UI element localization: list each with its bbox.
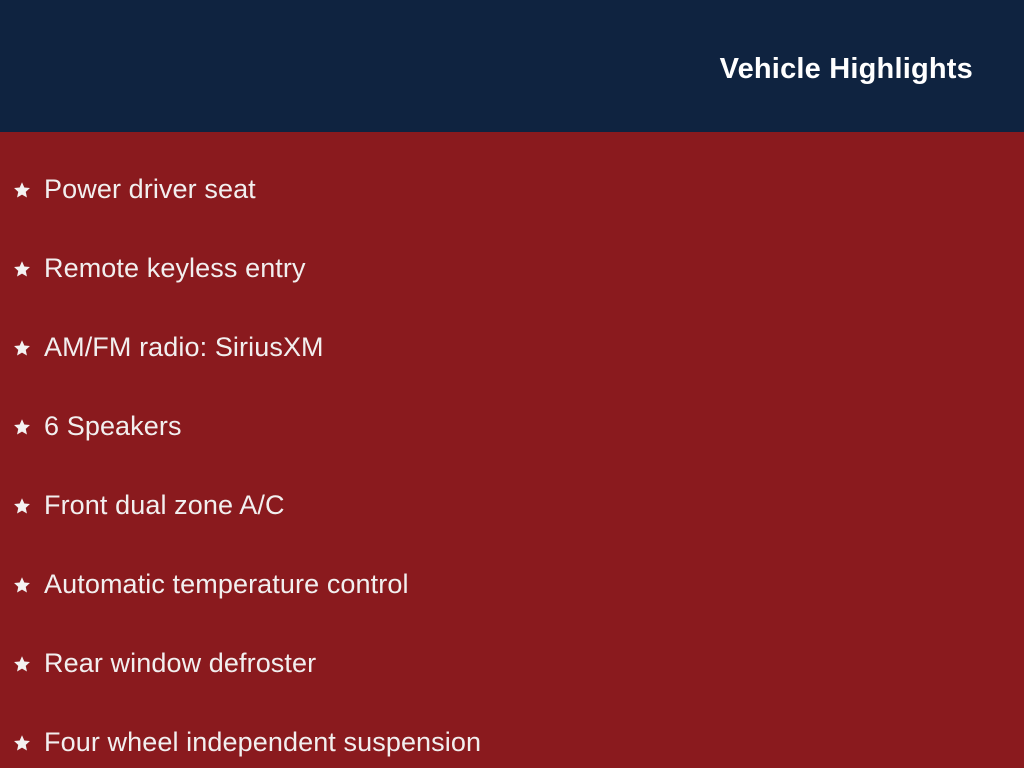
list-item-label: Four wheel independent suspension [44, 729, 481, 756]
list-item: AM/FM radio: SiriusXM [0, 308, 1024, 387]
list-item-label: Power driver seat [44, 176, 256, 203]
list-item: Four wheel independent suspension [0, 703, 1024, 768]
list-item: Remote keyless entry [0, 229, 1024, 308]
list-item: 6 Speakers [0, 387, 1024, 466]
list-item-label: AM/FM radio: SiriusXM [44, 334, 324, 361]
list-item: Power driver seat [0, 150, 1024, 229]
star-icon [12, 496, 32, 516]
page-title: Vehicle Highlights [720, 47, 1024, 86]
list-item: Automatic temperature control [0, 545, 1024, 624]
list-item-label: Rear window defroster [44, 650, 316, 677]
vehicle-highlights-list: Power driver seat Remote keyless entry A… [0, 150, 1024, 768]
star-icon [12, 338, 32, 358]
slide-body: Power driver seat Remote keyless entry A… [0, 132, 1024, 768]
list-item-label: Automatic temperature control [44, 571, 409, 598]
list-item-label: Remote keyless entry [44, 255, 306, 282]
star-icon [12, 417, 32, 437]
star-icon [12, 654, 32, 674]
star-icon [12, 259, 32, 279]
list-item: Rear window defroster [0, 624, 1024, 703]
list-item-label: 6 Speakers [44, 413, 182, 440]
list-item: Front dual zone A/C [0, 466, 1024, 545]
star-icon [12, 733, 32, 753]
slide-canvas: Vehicle Highlights Power driver seat Rem… [0, 0, 1024, 768]
star-icon [12, 180, 32, 200]
list-item-label: Front dual zone A/C [44, 492, 285, 519]
star-icon [12, 575, 32, 595]
slide-header-band: Vehicle Highlights [0, 0, 1024, 132]
